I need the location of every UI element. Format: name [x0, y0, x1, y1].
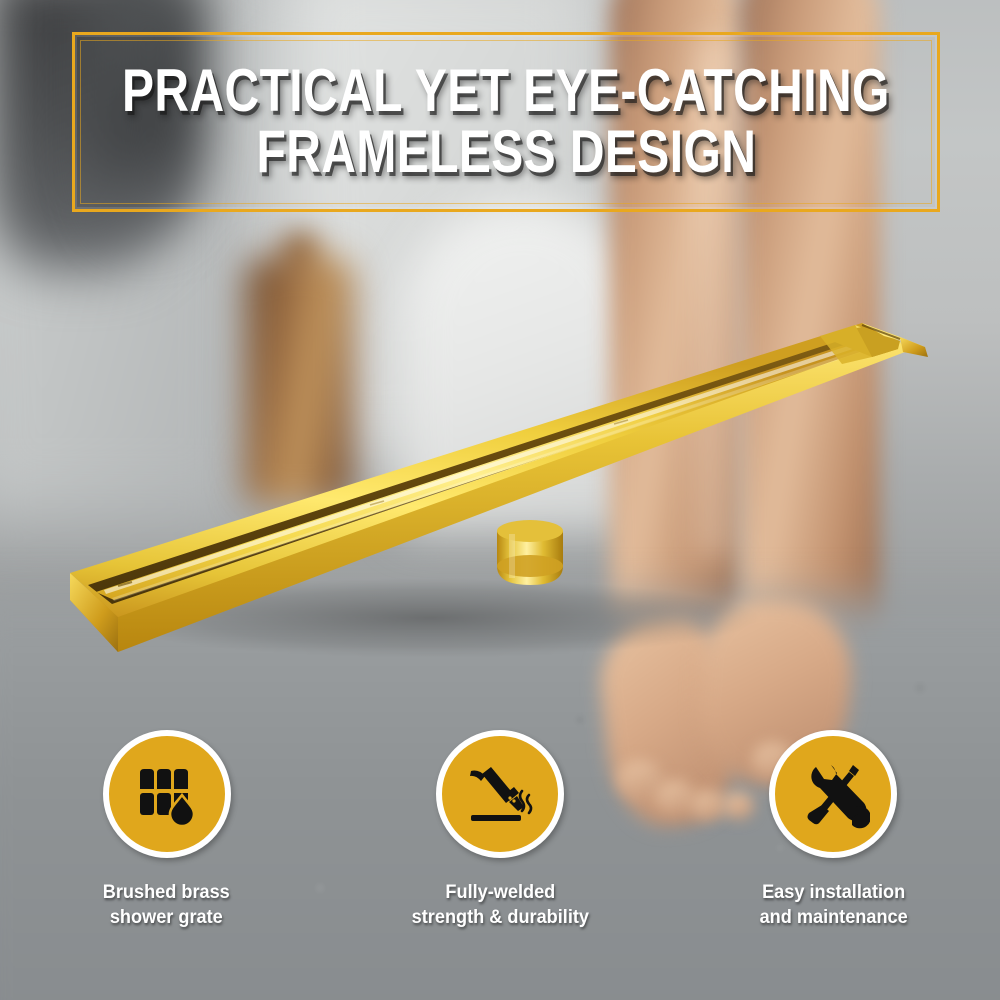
feature-icon-circle — [436, 730, 564, 858]
feature-item-fully-welded-strength-durability: Fully-welded strength & durability — [350, 730, 650, 930]
feature-caption: Brushed brass shower grate — [103, 880, 230, 930]
background-bottle — [244, 255, 354, 505]
feature-caption-line-2: shower grate — [103, 905, 230, 930]
feature-caption-line-1: Easy installation — [759, 880, 907, 905]
feature-list: Brushed brass shower grate — [0, 730, 1000, 930]
grate-droplet-icon — [130, 757, 204, 831]
feature-caption-line-1: Fully-welded — [411, 880, 588, 905]
feature-icon-circle — [103, 730, 231, 858]
welding-torch-icon — [463, 757, 537, 831]
headline-line-1: PRACTICAL YET EYE-CATCHING — [122, 62, 890, 121]
feature-caption-line-2: strength & durability — [411, 905, 588, 930]
feature-icon-circle — [769, 730, 897, 858]
feature-caption: Fully-welded strength & durability — [411, 880, 588, 930]
headline-line-2: FRAMELESS DESIGN — [256, 123, 756, 182]
feature-caption-line-2: and maintenance — [759, 905, 907, 930]
feature-caption: Easy installation and maintenance — [759, 880, 907, 930]
product-marketing-image: PRACTICAL YET EYE-CATCHING FRAMELESS DES… — [0, 0, 1000, 1000]
feature-item-easy-installation-maintenance: Easy installation and maintenance — [683, 730, 983, 930]
feature-caption-line-1: Brushed brass — [103, 880, 230, 905]
headline: PRACTICAL YET EYE-CATCHING FRAMELESS DES… — [72, 34, 940, 210]
wrench-screwdriver-icon — [796, 757, 870, 831]
feature-item-brushed-brass-shower-grate: Brushed brass shower grate — [17, 730, 317, 930]
